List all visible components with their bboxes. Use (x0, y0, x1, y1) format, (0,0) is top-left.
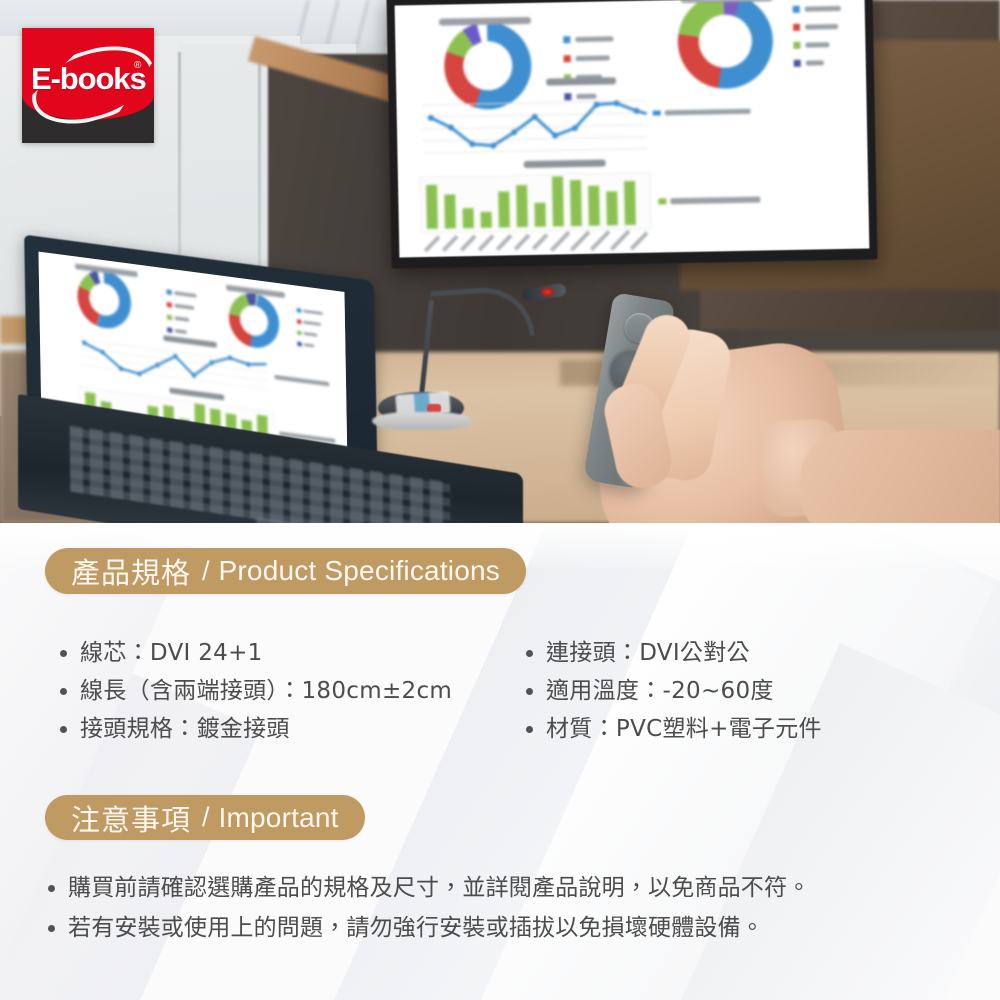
note-heading-cn: 注意事項 (71, 797, 191, 839)
hero-photo: ❯ ❮ E-books ® (0, 0, 1000, 523)
note-item: 若有安裝或使用上的問題，請勿強行安裝或插拔以免損壞硬體設備。 (46, 908, 810, 948)
spec-heading-en: Product Specifications (219, 555, 500, 587)
spec-list-right: 連接頭：DVI公對公 適用溫度：-20~60度 材質：PVC塑料+電子元件 (524, 634, 822, 748)
spec-heading-separator: / (202, 556, 210, 587)
microphone-foot (372, 412, 472, 430)
brand-logo: E-books ® (22, 28, 154, 143)
spec-heading-cn: 產品規格 (71, 550, 191, 592)
spec-item: 適用溫度：-20~60度 (524, 672, 822, 710)
spec-item: 接頭規格：鍍金接頭 (58, 710, 452, 748)
section-heading-specifications: 產品規格 / Product Specifications (45, 548, 526, 594)
note-heading-en: Important (219, 802, 339, 834)
note-item: 購買前請確認選購產品的規格及尺寸，並詳閱產品說明，以免商品不符。 (46, 868, 810, 908)
section-heading-important: 注意事項 / Important (45, 795, 365, 840)
logo-wordmark: E-books (31, 61, 146, 97)
product-spec-page: ❯ ❮ E-books ® 產品規格 / Product Specificati… (0, 0, 1000, 1000)
projected-dashboard-charts (395, 0, 870, 257)
note-heading-separator: / (202, 802, 210, 833)
important-notes-list: 購買前請確認選購產品的規格及尺寸，並詳閱產品說明，以免商品不符。 若有安裝或使用… (46, 868, 810, 948)
microphone-led-icon (541, 288, 554, 296)
wrist (800, 430, 1000, 523)
spec-list-left: 線芯：DVI 24+1 線長（含兩端接頭）：180cm±2cm 接頭規格：鍍金接… (58, 634, 452, 748)
registered-trademark-icon: ® (134, 60, 141, 71)
projector-screen-surface (395, 0, 870, 257)
spec-item: 連接頭：DVI公對公 (524, 634, 822, 672)
spec-item: 材質：PVC塑料+電子元件 (524, 710, 822, 748)
spec-item: 線長（含兩端接頭）：180cm±2cm (58, 672, 452, 710)
spec-item: 線芯：DVI 24+1 (58, 634, 452, 672)
projector-screen (386, 0, 877, 269)
